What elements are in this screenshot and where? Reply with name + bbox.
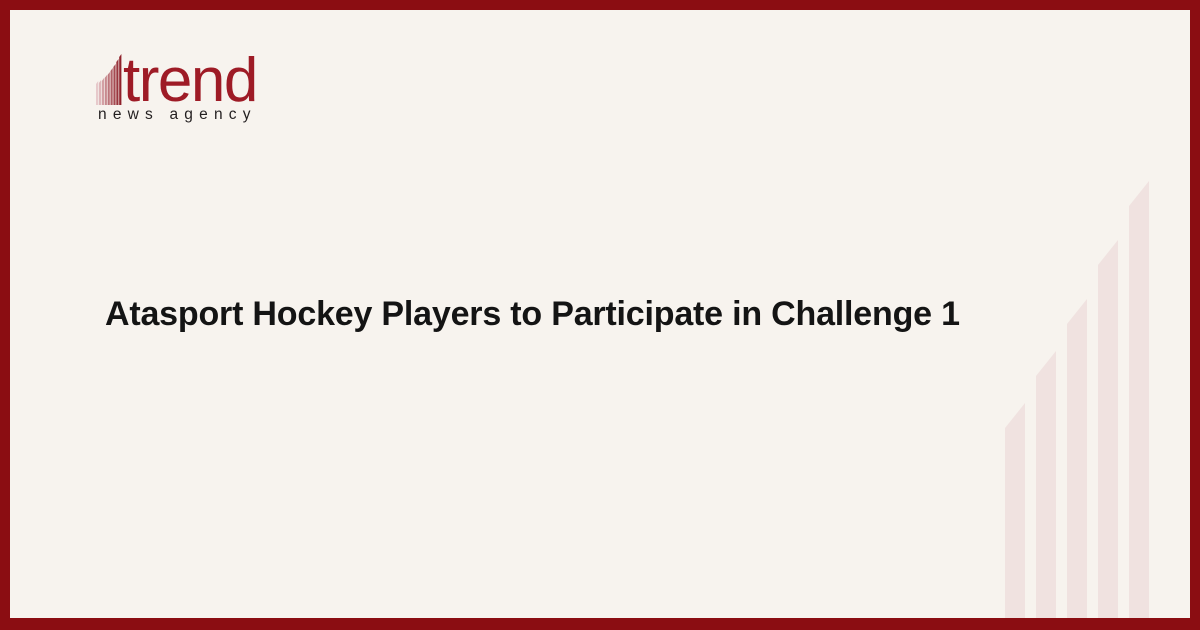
watermark-bar-4 bbox=[1098, 240, 1118, 618]
article-headline: Atasport Hockey Players to Participate i… bbox=[105, 292, 960, 336]
watermark-bars bbox=[1005, 181, 1149, 618]
watermark-bar-5 bbox=[1129, 181, 1149, 618]
trend-bars-watermark bbox=[1005, 148, 1180, 618]
watermark-bar-1 bbox=[1005, 403, 1025, 618]
trend-bars-mark-icon bbox=[96, 53, 122, 105]
brand-logo-row: trend bbox=[96, 42, 336, 108]
brand-wordmark: trend bbox=[123, 51, 257, 112]
watermark-bar-3 bbox=[1067, 299, 1087, 618]
social-share-card: trend news agency Atasport Hockey Player… bbox=[0, 0, 1200, 630]
brand-logo[interactable]: trend news agency bbox=[96, 42, 336, 142]
watermark-bar-2 bbox=[1036, 351, 1056, 618]
